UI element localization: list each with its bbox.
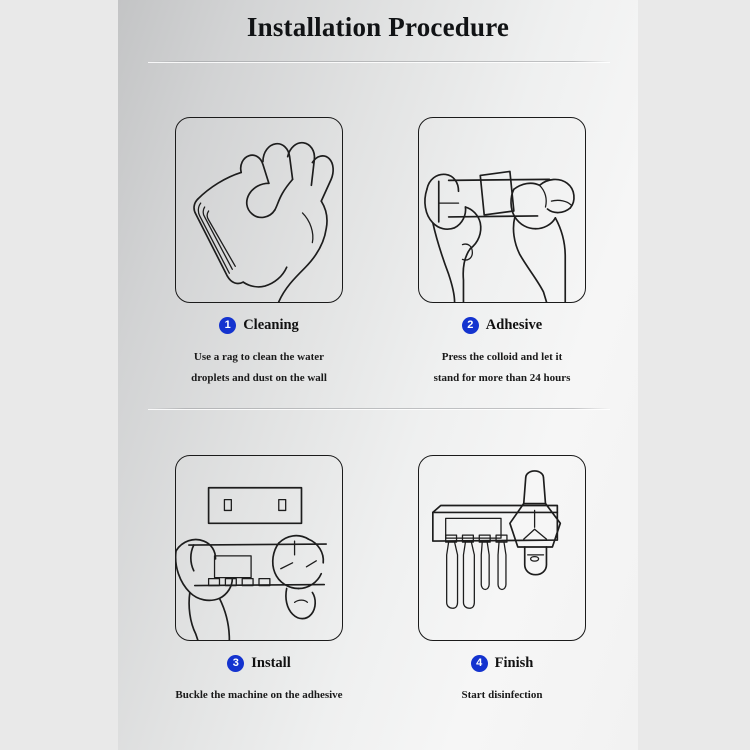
step-2-number-badge: 2 [462,317,479,334]
hands-pressing-adhesive-pad-icon [419,118,585,302]
step-4-illustration-frame [418,455,586,641]
step-card-2: 2Adhesive Press the colloid and let it s… [377,117,627,389]
step-4-number-badge: 4 [471,655,488,672]
step-2-description-line-2: stand for more than 24 hours [377,368,627,389]
step-1-description-line-2: droplets and dust on the wall [134,368,384,389]
step-4-description-line-1: Start disinfection [377,685,627,706]
step-3-number-badge: 3 [227,655,244,672]
step-card-3: 3Install Buckle the machine on the adhes… [134,455,384,706]
step-2-title: Adhesive [486,317,542,333]
hand-wiping-wall-with-rag-icon [176,118,342,302]
step-4-title: Finish [495,655,534,671]
step-2-heading: 2Adhesive [377,317,627,334]
row-divider [148,408,610,409]
step-3-description: Buckle the machine on the adhesive [134,685,384,706]
mounted-sterilizer-with-toothbrushes-icon [419,456,585,640]
step-4-heading: 4Finish [377,655,627,672]
step-3-description-line-1: Buckle the machine on the adhesive [134,685,384,706]
hands-mounting-device-on-bracket-icon [176,456,342,640]
step-1-heading: 1Cleaning [134,317,384,334]
step-2-description-line-1: Press the colloid and let it [377,347,627,368]
step-card-1: 1Cleaning Use a rag to clean the water d… [134,117,384,389]
step-1-description: Use a rag to clean the water droplets an… [134,347,384,389]
step-1-description-line-1: Use a rag to clean the water [134,347,384,368]
step-3-illustration-frame [175,455,343,641]
step-2-illustration-frame [418,117,586,303]
step-2-description: Press the colloid and let it stand for m… [377,347,627,389]
step-1-title: Cleaning [243,317,299,333]
step-4-description: Start disinfection [377,685,627,706]
step-3-title: Install [251,655,291,671]
step-1-illustration-frame [175,117,343,303]
step-3-heading: 3Install [134,655,384,672]
installation-procedure-infographic: Installation Procedure [0,0,750,750]
step-card-4: 4Finish Start disinfection [377,455,627,706]
step-1-number-badge: 1 [219,317,236,334]
title-divider [148,61,610,62]
page-title: Installation Procedure [118,12,638,43]
